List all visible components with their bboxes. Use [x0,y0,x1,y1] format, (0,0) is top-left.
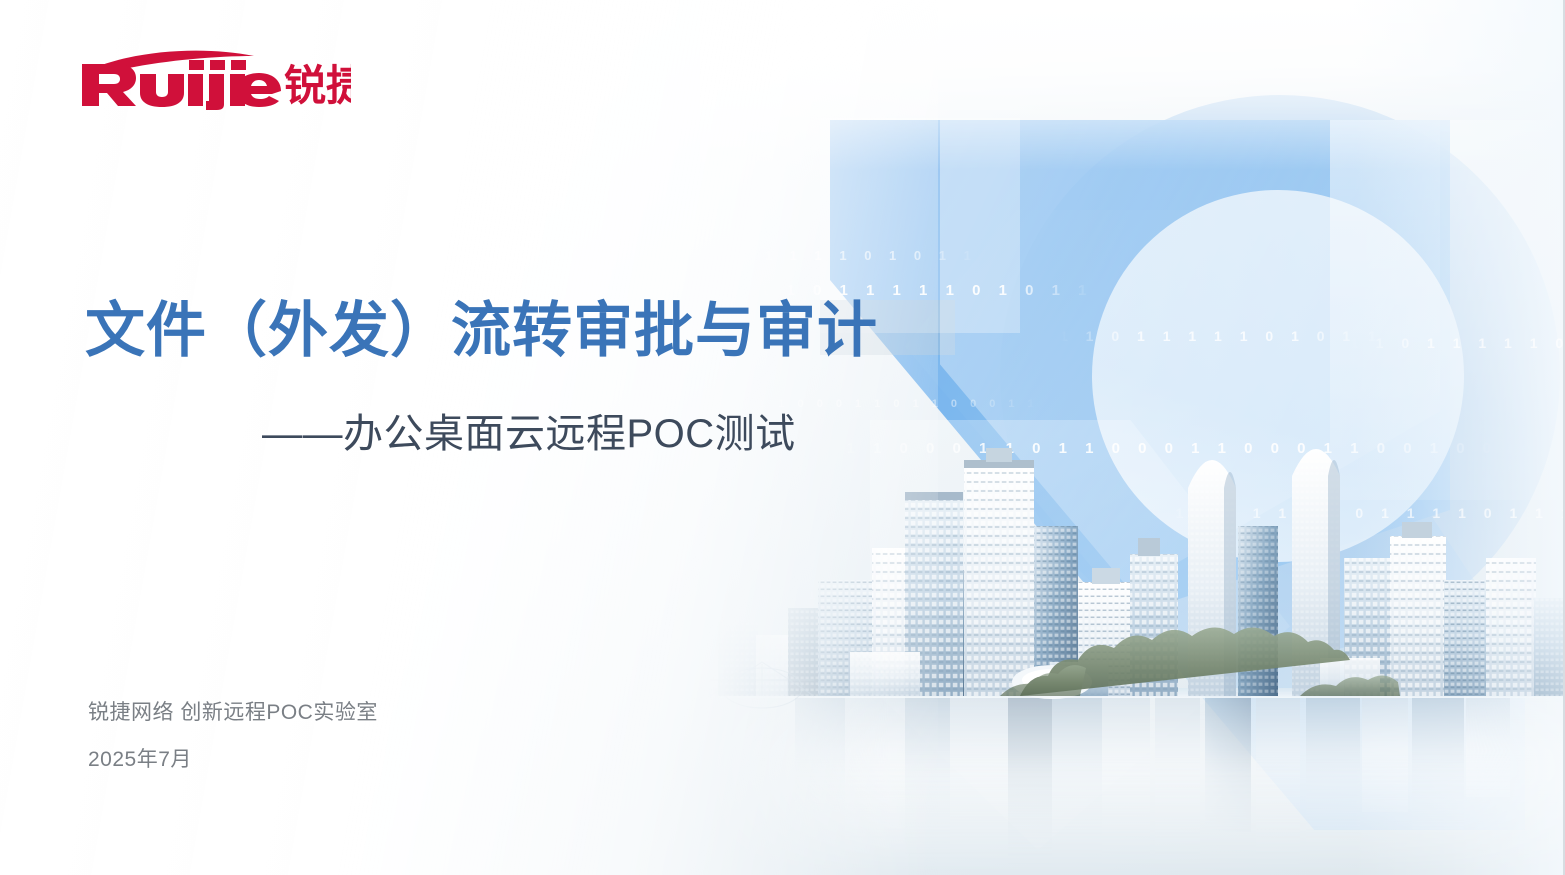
binary-stream-row: 1 1 0 1 1 1 1 1 0 1 0 1 1 [1350,335,1563,351]
binary-stream-row: 0 1 1 0 0 0 1 1 0 1 1 0 0 0 1 1 0 0 0 1 … [820,440,1498,457]
binary-stream-row: 1 1 1 1 1 1 0 1 0 1 1 1 1 0 1 1 1 1 1 0 [1150,505,1563,521]
right-white-fade [1353,0,1563,875]
geometric-facet-c [940,120,1440,590]
city-skyline-image [700,430,1563,875]
slide-title: 文件（外发）流转审批与审计 [85,296,878,365]
footer-organization: 锐捷网络 创新远程POC实验室 [88,702,378,723]
footer-date: 2025年7月 [88,749,378,770]
slide-subtitle: ——办公桌面云远程POC测试 [262,401,796,459]
logo-chinese-text: 锐捷 [284,62,351,109]
r-watermark-bowl [1000,95,1560,655]
r-watermark-leg [905,210,1525,830]
slide-footer: 锐捷网络 创新远程POC实验室 2025年7月 [88,702,378,770]
presentation-slide: 1 1 1 1 1 0 1 0 1 1 1 1 0 1 1 1 1 1 0 1 … [0,0,1565,875]
geometric-facet-e [870,420,1290,850]
top-white-fade [700,0,1563,170]
r-watermark-stem [830,120,1450,620]
binary-stream-row: 1 1 1 1 1 0 1 0 1 1 [740,248,978,263]
binary-stream-row: 1 1 0 1 1 1 1 1 0 1 0 1 1 [1060,328,1383,344]
r-watermark-counter [1092,190,1464,562]
geometric-facet-d [1330,120,1560,500]
ruijie-logo: Networks 锐捷 [76,48,351,110]
binary-stream-row: 0 1 1 0 1 0 0 1 1 0 0 1 1 0 0 0 1 1 [790,590,1127,602]
